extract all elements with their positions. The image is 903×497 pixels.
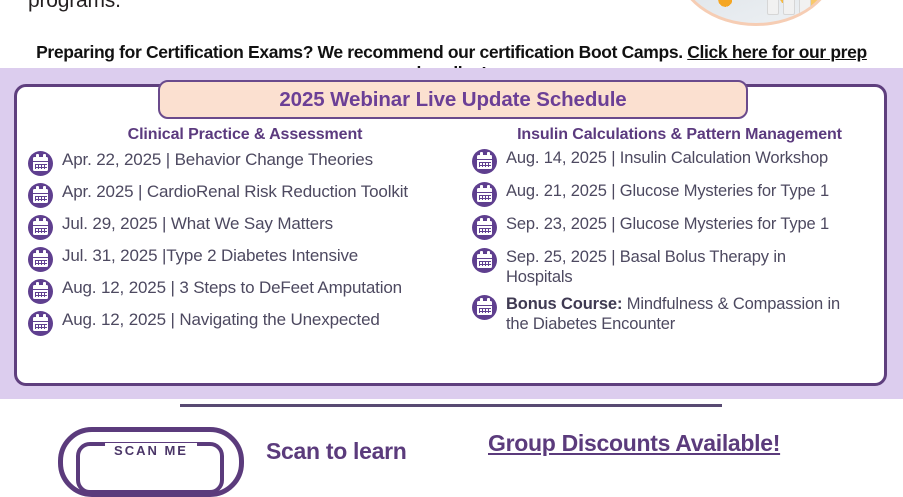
schedule-event[interactable]: Sep. 25, 2025 | Basal Bolus Therapy in H… [472,247,887,287]
footer-divider [180,404,722,407]
medical-supplies-photo [676,0,836,26]
group-discounts-link[interactable]: Group Discounts Available! [488,430,780,457]
schedule-event-text: Aug. 14, 2025 | Insulin Calculation Work… [506,148,828,168]
schedule-event[interactable]: Apr. 22, 2025 | Behavior Change Theories [28,150,462,176]
schedule-event-bonus[interactable]: Bonus Course: Mindfulness & Compassion i… [472,294,887,334]
schedule-event-text: Jul. 29, 2025 | What We Say Matters [62,214,333,235]
schedule-columns: Clinical Practice & Assessment Apr. 22, … [14,126,887,381]
schedule-event[interactable]: Aug. 21, 2025 | Glucose Mysteries for Ty… [472,181,887,207]
schedule-event[interactable]: Aug. 14, 2025 | Insulin Calculation Work… [472,148,887,174]
photo-tube-shape [799,0,811,15]
calendar-icon [472,295,497,320]
schedule-event-text: Jul. 31, 2025 |Type 2 Diabetes Intensive [62,246,358,267]
calendar-icon [472,149,497,174]
schedule-event-text: Apr. 2025 | CardioRenal Risk Reduction T… [62,182,408,203]
bonus-course-prefix: Bonus Course: [506,295,622,313]
certification-promo-text: Preparing for Certification Exams? We re… [36,42,687,62]
calendar-icon [472,215,497,240]
calendar-icon [28,151,53,176]
schedule-event[interactable]: Apr. 2025 | CardioRenal Risk Reduction T… [28,182,462,208]
calendar-icon [28,311,53,336]
schedule-event-text: Sep. 23, 2025 | Glucose Mysteries for Ty… [506,214,829,234]
schedule-event[interactable]: Jul. 29, 2025 | What We Say Matters [28,214,462,240]
qr-scan-badge[interactable]: SCAN ME [58,427,244,497]
schedule-event[interactable]: Sep. 23, 2025 | Glucose Mysteries for Ty… [472,214,887,240]
scan-to-learn-text: Scan to learn [266,438,407,465]
column-heading-clinical: Clinical Practice & Assessment [28,126,462,144]
column-heading-insulin: Insulin Calculations & Pattern Managemen… [472,126,887,144]
schedule-column-clinical: Clinical Practice & Assessment Apr. 22, … [14,126,462,381]
schedule-event-text: Apr. 22, 2025 | Behavior Change Theories [62,150,373,171]
top-paragraph-fragment: programs. [28,0,121,13]
schedule-title-pill: 2025 Webinar Live Update Schedule [158,80,748,119]
schedule-title: 2025 Webinar Live Update Schedule [279,88,626,112]
schedule-event[interactable]: Aug. 12, 2025 | 3 Steps to DeFeet Amputa… [28,278,462,304]
schedule-event[interactable]: Jul. 31, 2025 |Type 2 Diabetes Intensive [28,246,462,272]
calendar-icon [28,247,53,272]
calendar-icon [472,248,497,273]
schedule-column-insulin: Insulin Calculations & Pattern Managemen… [462,126,887,381]
calendar-icon [472,182,497,207]
schedule-event[interactable]: Aug. 12, 2025 | Navigating the Unexpecte… [28,310,462,336]
schedule-event-text: Aug. 12, 2025 | Navigating the Unexpecte… [62,310,380,331]
schedule-event-text: Aug. 21, 2025 | Glucose Mysteries for Ty… [506,181,829,201]
schedule-event-bonus-text: Bonus Course: Mindfulness & Compassion i… [506,294,858,334]
scan-me-label: SCAN ME [105,443,197,458]
photo-tube-shape [767,0,779,15]
schedule-event-text: Aug. 12, 2025 | 3 Steps to DeFeet Amputa… [62,278,402,299]
calendar-icon [28,215,53,240]
schedule-event-text: Sep. 25, 2025 | Basal Bolus Therapy in H… [506,247,836,287]
calendar-icon [28,279,53,304]
photo-tube-shape [783,0,795,15]
calendar-icon [28,183,53,208]
